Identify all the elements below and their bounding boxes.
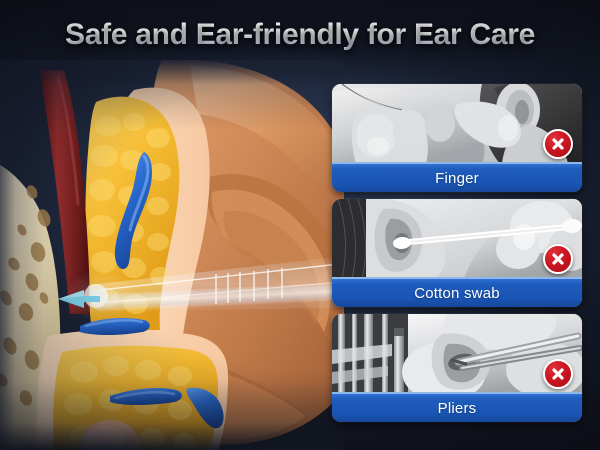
warning-card-list: Finger [332, 84, 582, 429]
page-title: Safe and Ear-friendly for Ear Care [0, 18, 600, 52]
card-label-bar: Cotton swab [332, 277, 582, 307]
card-label: Cotton swab [414, 285, 500, 302]
x-mark-icon [543, 359, 573, 389]
promo-banner: Safe and Ear-friendly for Ear Care [0, 0, 600, 450]
x-mark-icon [543, 129, 573, 159]
warning-card-pliers[interactable]: Pliers [332, 314, 582, 422]
warning-card-finger[interactable]: Finger [332, 84, 582, 192]
warning-card-cotton-swab[interactable]: Cotton swab [332, 199, 582, 307]
x-mark-icon [543, 244, 573, 274]
card-label: Finger [435, 170, 479, 187]
card-label: Pliers [438, 400, 477, 417]
card-label-bar: Finger [332, 162, 582, 192]
card-label-bar: Pliers [332, 392, 582, 422]
